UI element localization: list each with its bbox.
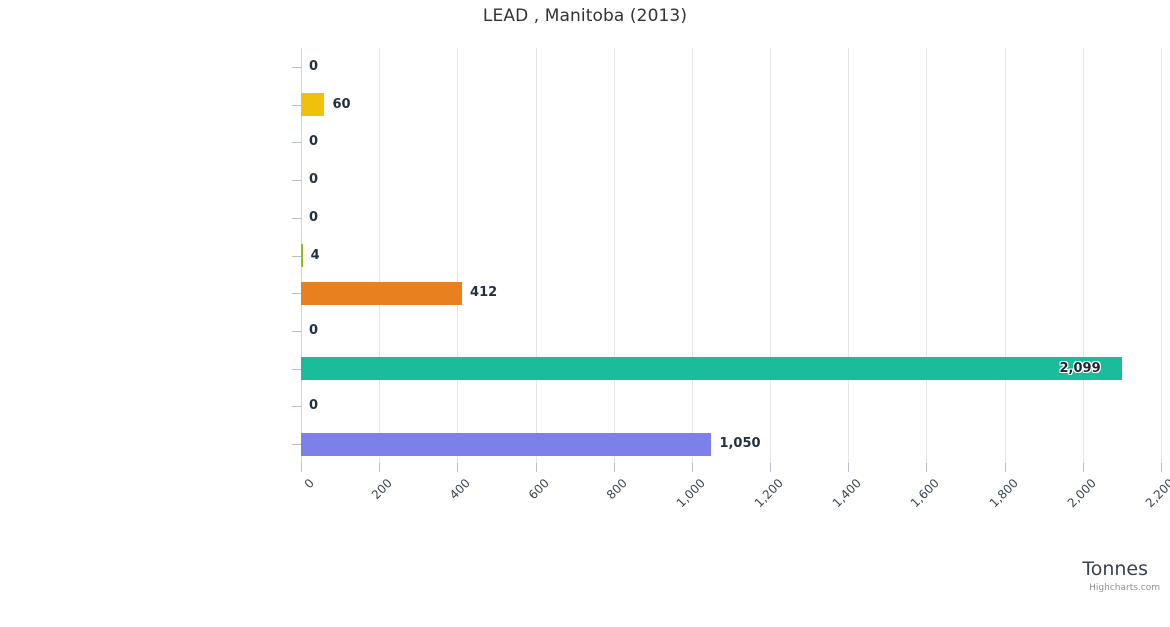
category-tick — [292, 142, 301, 143]
bar[interactable] — [301, 93, 324, 116]
x-axis-tick — [457, 463, 458, 472]
bar[interactable] — [301, 282, 462, 305]
x-axis-tick — [536, 463, 537, 472]
plot-area — [301, 48, 1161, 463]
gridline — [614, 48, 615, 463]
gridline — [536, 48, 537, 463]
gridline — [1161, 48, 1162, 463]
gridline — [926, 48, 927, 463]
category-tick — [292, 406, 301, 407]
x-axis-tick — [1161, 463, 1162, 472]
x-axis-tick-label: 400 — [322, 476, 473, 627]
gridline — [1005, 48, 1006, 463]
gridline — [770, 48, 771, 463]
gridline — [1083, 48, 1084, 463]
x-axis-tick — [1083, 463, 1084, 472]
bar-value-label: 0 — [309, 399, 318, 413]
x-axis-tick-label: 1,200 — [635, 476, 786, 627]
x-axis-tick-label: 2,200 — [1026, 476, 1170, 627]
bar-value-label: 1,050 — [719, 437, 760, 451]
category-tick — [292, 444, 301, 445]
category-tick — [292, 293, 301, 294]
x-axis-tick — [1005, 463, 1006, 472]
bar[interactable] — [301, 244, 303, 267]
gridline — [848, 48, 849, 463]
x-axis-tick — [926, 463, 927, 472]
category-tick — [292, 331, 301, 332]
x-axis-tick — [770, 463, 771, 472]
x-axis-tick-label: 0 — [166, 476, 317, 627]
x-axis-tick — [848, 463, 849, 472]
category-tick — [292, 180, 301, 181]
gridline — [692, 48, 693, 463]
bar-value-label: 0 — [309, 173, 318, 187]
bar-value-label: 0 — [309, 135, 318, 149]
x-axis-tick-label: 1,400 — [713, 476, 864, 627]
category-tick — [292, 67, 301, 68]
highcharts-credits: Highcharts.com — [1089, 583, 1160, 593]
gridline — [457, 48, 458, 463]
x-axis-tick — [692, 463, 693, 472]
bar-value-label: 0 — [309, 60, 318, 74]
category-tick — [292, 105, 301, 106]
bar-value-label: 4 — [311, 249, 320, 263]
x-axis-tick — [614, 463, 615, 472]
x-axis-tick-label: 1,800 — [869, 476, 1020, 627]
gridline — [379, 48, 380, 463]
bar-value-label: 2,099 — [1060, 362, 1101, 376]
bar-value-label: 60 — [332, 98, 350, 112]
x-axis-tick-label: 800 — [478, 476, 629, 627]
bar-chart: LEAD , Manitoba (2013) AgricultureCommer… — [0, 0, 1170, 600]
x-axis-tick-label: 1,600 — [791, 476, 942, 627]
chart-title: LEAD , Manitoba (2013) — [0, 6, 1170, 26]
bar-value-label: 0 — [309, 211, 318, 225]
bar-value-label: 412 — [470, 286, 497, 300]
bar[interactable] — [301, 433, 711, 456]
x-axis-tick-label: 1,000 — [556, 476, 707, 627]
x-axis-tick-label: 600 — [400, 476, 551, 627]
category-tick — [292, 256, 301, 257]
x-axis-tick-label: 200 — [244, 476, 395, 627]
bar[interactable] — [301, 357, 1122, 380]
category-tick — [292, 369, 301, 370]
x-axis-title: Tonnes — [1082, 558, 1148, 580]
category-tick — [292, 218, 301, 219]
x-axis-tick — [301, 463, 302, 472]
x-axis-tick — [379, 463, 380, 472]
x-axis-tick-label: 2,000 — [947, 476, 1098, 627]
bar-value-label: 0 — [309, 324, 318, 338]
